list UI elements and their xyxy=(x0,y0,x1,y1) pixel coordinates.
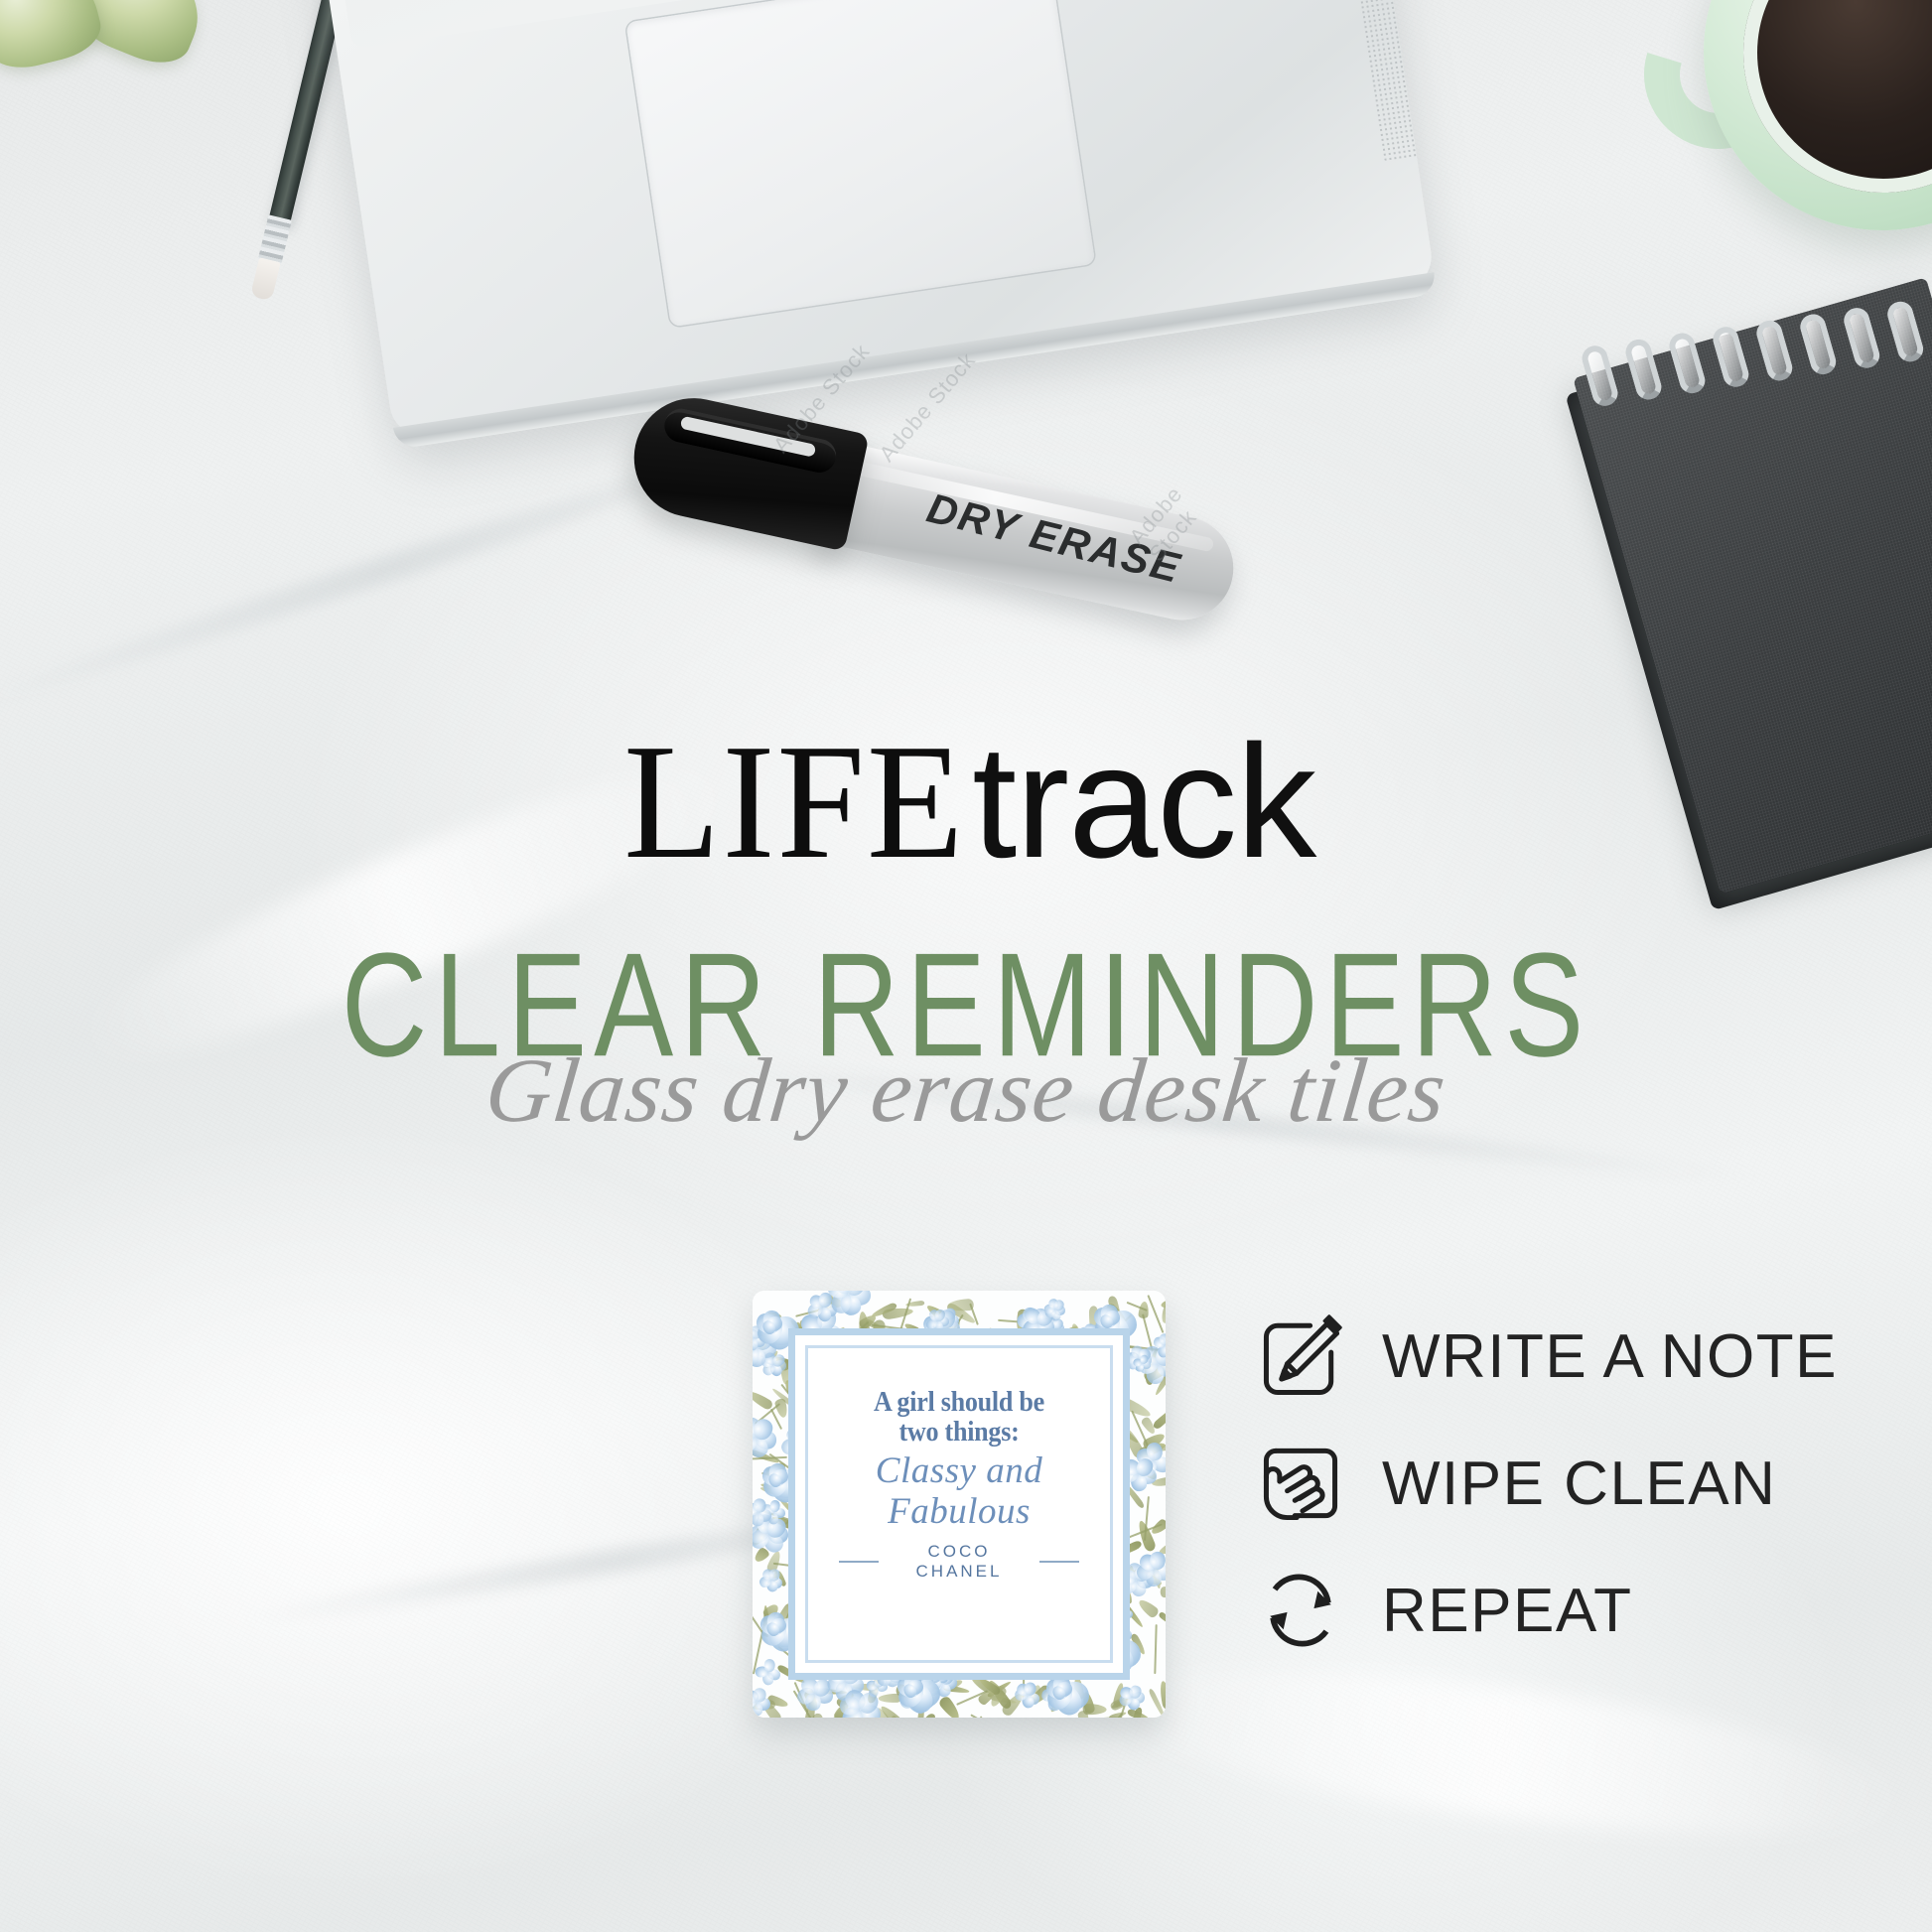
tile-frame-outer: A girl should be two things: Classy and … xyxy=(788,1328,1130,1680)
brand-logo: LIFEtrack xyxy=(0,719,1932,884)
feature-list: WRITE A NOTE WIPE CLEAN xyxy=(1253,1293,1868,1674)
coffee-mug xyxy=(1644,0,1932,270)
feature-label-write: WRITE A NOTE xyxy=(1382,1321,1838,1392)
feature-row-write: WRITE A NOTE xyxy=(1253,1293,1868,1420)
brand-word-track: track xyxy=(972,722,1315,883)
laptop-speaker-grille xyxy=(1282,0,1419,163)
attribution-rule-right xyxy=(1039,1561,1079,1563)
product-tile[interactable]: A girl should be two things: Classy and … xyxy=(753,1291,1166,1718)
write-pencil-icon xyxy=(1253,1309,1348,1404)
tile-attribution: COCO CHANEL xyxy=(889,1542,1030,1582)
feature-row-wipe: WIPE CLEAN xyxy=(1253,1420,1868,1547)
attribution-rule-left xyxy=(839,1561,879,1563)
feature-label-wipe: WIPE CLEAN xyxy=(1382,1449,1776,1519)
floral-leaf xyxy=(1161,1587,1166,1597)
tile-quote-line-1: A girl should be two things: xyxy=(851,1387,1067,1448)
pencil-eraser xyxy=(250,257,281,301)
feature-label-repeat: REPEAT xyxy=(1382,1576,1632,1646)
feature-row-repeat: REPEAT xyxy=(1253,1547,1868,1674)
laptop-trackpad xyxy=(625,0,1095,327)
product-marketing-image: M<,>.?/commandoptionenterreturnshift◀▲▼▶… xyxy=(0,0,1932,1932)
succulent-plant xyxy=(0,0,258,149)
succulent-leaf xyxy=(0,0,106,76)
tile-quote-block: A girl should be two things: Classy and … xyxy=(839,1387,1079,1582)
wipe-hand-icon xyxy=(1253,1436,1348,1531)
subheadline: Glass dry erase desk tiles xyxy=(0,1044,1932,1136)
repeat-arrows-icon xyxy=(1253,1563,1348,1658)
brand-word-life: LIFE xyxy=(623,719,965,884)
tile-quote-line-2: Classy and Fabulous xyxy=(839,1451,1079,1532)
tile-attribution-row: COCO CHANEL xyxy=(839,1542,1079,1582)
